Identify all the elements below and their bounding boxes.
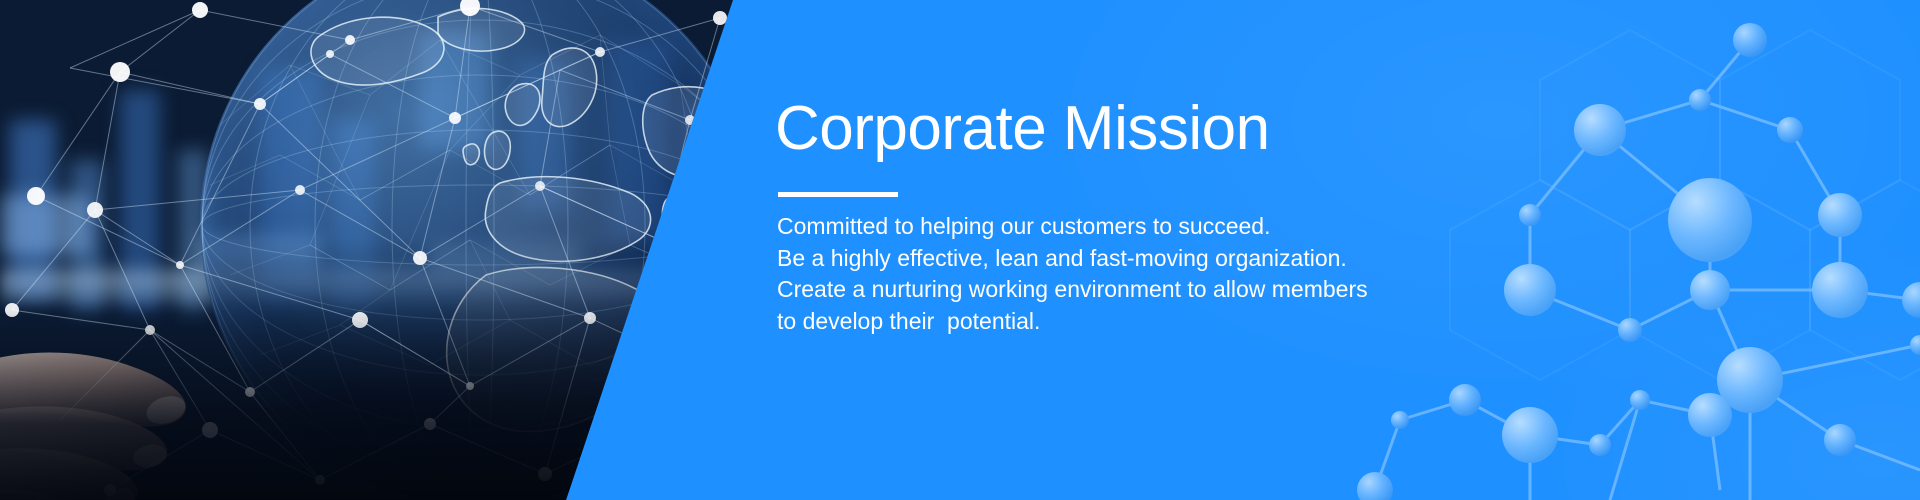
- page-title: Corporate Mission: [775, 96, 1270, 161]
- accent-rule-divider: [778, 192, 898, 197]
- mission-body-text: Committed to helping our customers to su…: [777, 211, 1368, 337]
- corporate-mission-banner: Corporate Mission Committed to helping o…: [0, 0, 1920, 500]
- mission-content: Corporate Mission Committed to helping o…: [775, 0, 1775, 500]
